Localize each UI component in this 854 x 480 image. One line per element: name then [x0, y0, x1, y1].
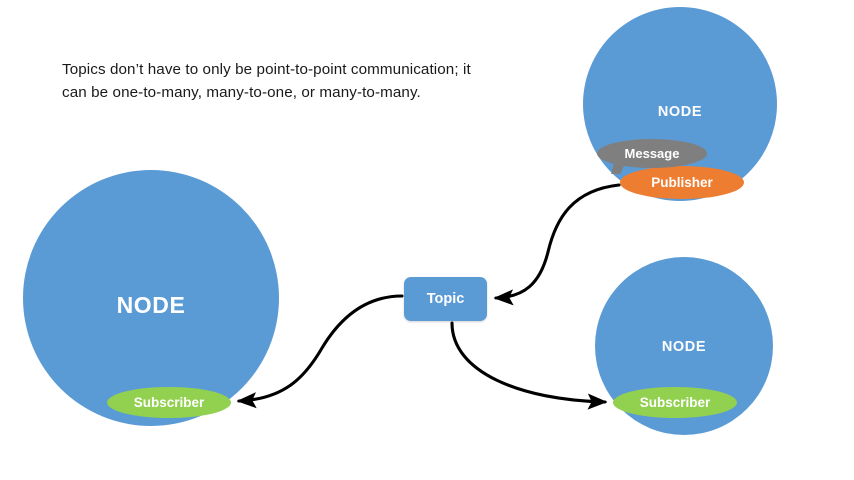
diagram-canvas: Topics don’t have to only be point-to-po…	[0, 0, 854, 480]
arrow-topic-to-subscriber-left	[239, 296, 402, 401]
message-bubble: Message	[597, 139, 707, 168]
arrow-layer	[0, 0, 854, 480]
arrow-topic-to-subscriber-right	[452, 323, 605, 402]
topic-box: Topic	[404, 277, 487, 321]
arrow-publisher-to-topic	[496, 185, 619, 298]
